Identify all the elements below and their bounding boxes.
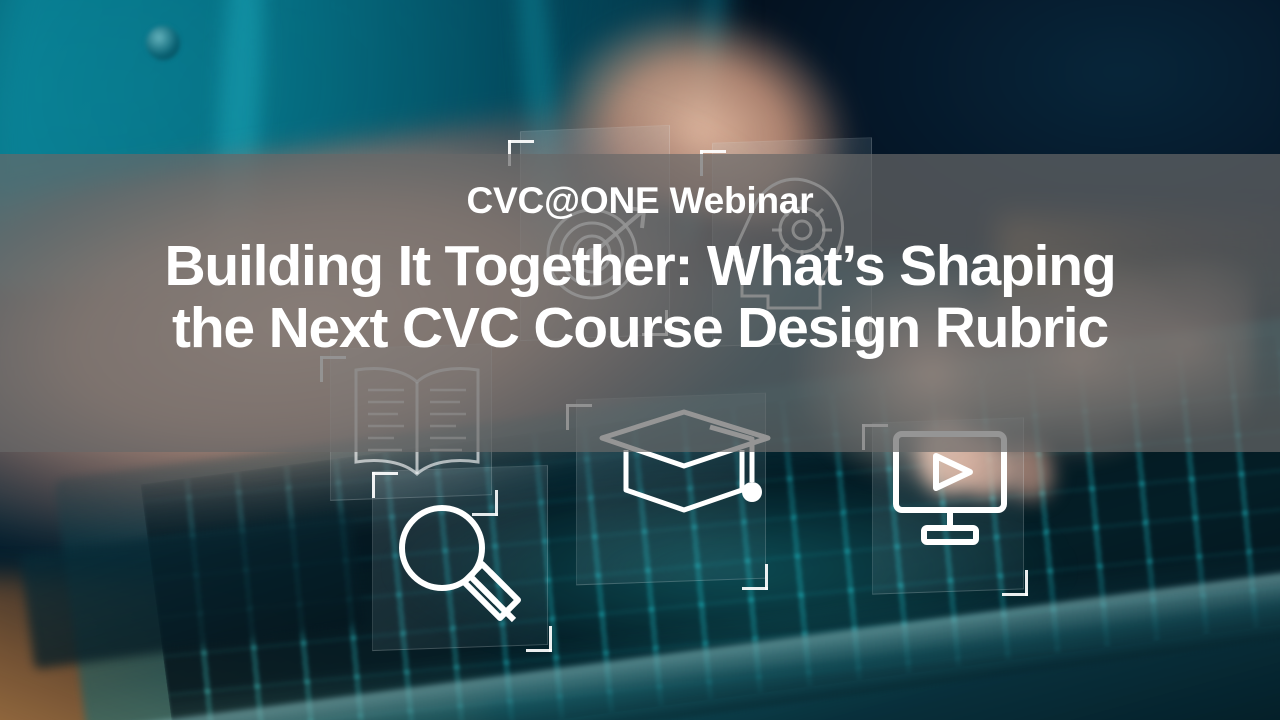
page-title-line-2: the Next CVC Course Design Rubric [164,297,1115,359]
shirt-button [146,26,180,60]
webinar-title-card: CVC@ONE Webinar Building It Together: Wh… [0,0,1280,720]
webinar-eyebrow: CVC@ONE Webinar [467,182,814,221]
title-overlay-band: CVC@ONE Webinar Building It Together: Wh… [0,154,1280,452]
page-title-line-1: Building It Together: What’s Shaping [164,234,1115,298]
page-title: Building It Together: What’s Shaping the… [164,235,1115,359]
